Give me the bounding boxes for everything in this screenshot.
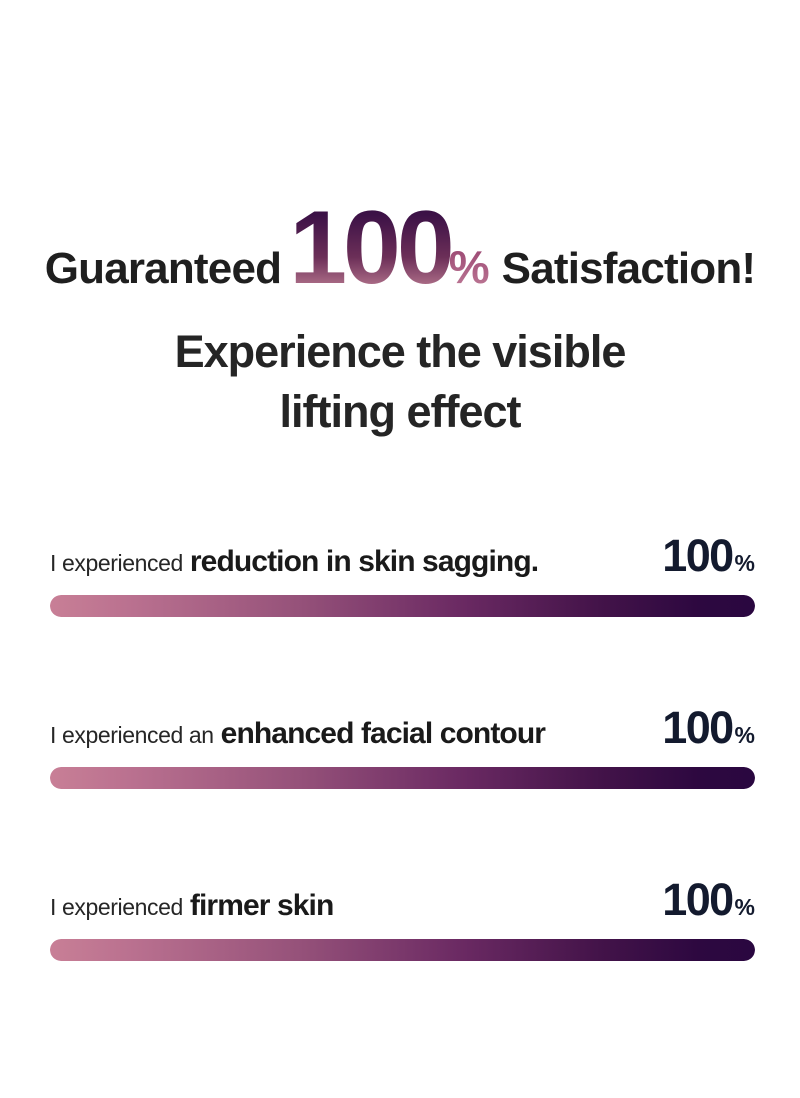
headline-percent-symbol: % xyxy=(449,241,490,293)
stat-row: I experienced reduction in skin sagging.… xyxy=(50,533,755,617)
stat-label: I experienced firmer skin xyxy=(50,891,333,921)
progress-bar-track xyxy=(50,939,755,961)
progress-bar-track xyxy=(50,595,755,617)
stat-value-percent-symbol: % xyxy=(735,896,755,919)
stat-value: 100 % xyxy=(662,705,755,750)
stat-value: 100 % xyxy=(662,877,755,922)
stat-list: I experienced reduction in skin sagging.… xyxy=(50,533,755,961)
stat-value-percent-symbol: % xyxy=(735,552,755,575)
headline-prefix: Guaranteed xyxy=(45,244,282,293)
stat-label: I experienced reduction in skin sagging. xyxy=(50,547,538,577)
stat-value-number: 100 xyxy=(662,533,732,578)
subheading: Experience the visible lifting effect xyxy=(0,322,800,443)
stat-label-bold: firmer skin xyxy=(190,891,334,921)
stat-header: I experienced reduction in skin sagging.… xyxy=(50,533,755,578)
subheading-line-2: lifting effect xyxy=(0,382,800,442)
stat-label-bold: enhanced facial contour xyxy=(221,719,545,749)
stat-value-percent-symbol: % xyxy=(735,724,755,747)
stat-header: I experienced firmer skin 100 % xyxy=(50,877,755,922)
stat-value-number: 100 xyxy=(662,705,732,750)
promo-page: Guaranteed100%Satisfaction! Experience t… xyxy=(0,0,800,1098)
subheading-line-1: Experience the visible xyxy=(0,322,800,382)
headline: Guaranteed100%Satisfaction! xyxy=(0,196,800,300)
stat-value: 100 % xyxy=(662,533,755,578)
stat-label-bold: reduction in skin sagging. xyxy=(190,547,538,577)
headline-suffix: Satisfaction! xyxy=(502,244,756,293)
progress-bar-fill xyxy=(50,595,755,617)
stat-row: I experienced an enhanced facial contour… xyxy=(50,705,755,789)
stat-value-number: 100 xyxy=(662,877,732,922)
stat-header: I experienced an enhanced facial contour… xyxy=(50,705,755,750)
stat-label: I experienced an enhanced facial contour xyxy=(50,719,545,749)
progress-bar-track xyxy=(50,767,755,789)
stat-label-light: I experienced xyxy=(50,896,183,919)
progress-bar-fill xyxy=(50,767,755,789)
stat-row: I experienced firmer skin 100 % xyxy=(50,877,755,961)
stat-label-light: I experienced xyxy=(50,552,183,575)
stat-label-light: I experienced an xyxy=(50,724,214,747)
headline-number: 100 xyxy=(289,190,451,306)
progress-bar-fill xyxy=(50,939,755,961)
